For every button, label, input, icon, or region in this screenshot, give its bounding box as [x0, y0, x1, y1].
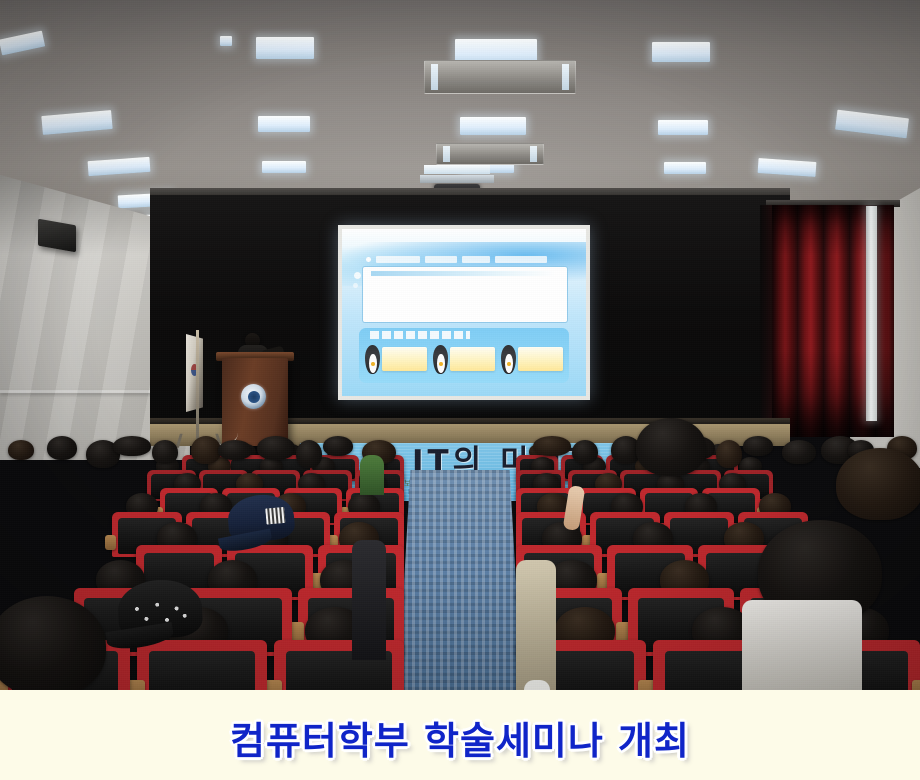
projection-screen: [338, 225, 590, 400]
audience-head: [636, 418, 706, 476]
page-root: IT의 미래전 정보통신부·한국정보문화진흥원 IT Vision 컴퓨터학부 …: [0, 0, 920, 780]
caption-bar: 컴퓨터학부 학술세미나 개최: [0, 690, 920, 780]
slide-lower-panel: [359, 328, 569, 383]
ceiling-air-vent: [436, 143, 544, 165]
cap-logo-icon: [265, 507, 285, 525]
seminar-photo: IT의 미래전 정보통신부·한국정보문화진흥원 IT Vision: [0, 0, 920, 690]
penguin-icon: [365, 345, 380, 375]
cap-stud-decor: [128, 600, 193, 629]
auditorium-seat: [137, 640, 267, 690]
seat-armrest: [105, 535, 116, 550]
slide-header-bar: [362, 252, 567, 265]
ceiling-light: [664, 162, 706, 174]
vent-louver: [431, 64, 438, 90]
slide-content-line: [371, 271, 555, 275]
audience-person-white-shirt: [742, 600, 862, 690]
ceiling-light: [652, 42, 710, 62]
audience-head: [572, 440, 598, 464]
audience-head: [113, 436, 151, 456]
slide-header-chunk: [376, 256, 420, 263]
audience-head: [8, 440, 34, 460]
korean-flag-icon: [186, 334, 203, 412]
flag-pole: [196, 330, 199, 442]
audience-head: [191, 436, 221, 464]
ceiling-light: [220, 36, 232, 46]
audience-head: [296, 440, 322, 468]
slide-header-chunk: [425, 256, 457, 263]
audience-head: [782, 440, 816, 464]
slide-header-chunk: [462, 256, 490, 263]
vent-louver: [562, 64, 569, 90]
audience-head: [533, 436, 571, 456]
audience-head: [716, 440, 742, 468]
seat-armrest: [912, 680, 920, 690]
audience-head: [257, 436, 295, 460]
ceiling-light: [256, 37, 314, 59]
window-light-slit: [866, 206, 877, 421]
slide-callout-box: [518, 347, 562, 371]
ceiling-light: [460, 117, 526, 135]
ceiling-air-vent: [424, 60, 576, 94]
slide-character-item: [365, 342, 426, 377]
audience-head: [323, 436, 353, 456]
penguin-icon: [501, 345, 516, 375]
slide-character-item: [501, 342, 562, 377]
slide-character-item: [433, 342, 494, 377]
slide-callout-box: [382, 347, 426, 371]
penguin-icon: [433, 345, 448, 375]
audience-shoe: [524, 680, 550, 690]
ceiling-light: [258, 116, 310, 132]
slide-header-chunk: [495, 256, 547, 263]
center-aisle-floor: [398, 470, 522, 690]
slide-content-box: [362, 266, 569, 323]
slide-character-row: [365, 342, 562, 377]
caption-title: 컴퓨터학부 학술세미나 개최: [230, 710, 690, 765]
audience-head: [218, 440, 252, 460]
audience-person-green: [360, 455, 384, 495]
audience-head: [47, 436, 77, 460]
audience-head: [836, 448, 920, 520]
audience-person-khaki: [516, 560, 556, 690]
audience-head: [152, 440, 178, 464]
ceiling-light: [262, 161, 306, 173]
slide-callout-box: [450, 347, 494, 371]
slide-subtitle-bar: [370, 331, 471, 338]
audience-head: [743, 436, 773, 456]
ceiling-light: [658, 120, 708, 135]
vent-louver: [443, 146, 450, 162]
university-emblem-icon: [241, 384, 266, 409]
audience-person-dark: [352, 540, 386, 660]
slide-header-bullet-icon: [366, 257, 371, 262]
seat-cushion: [149, 651, 256, 690]
presentation-slide: [342, 229, 586, 396]
vent-louver: [530, 146, 537, 162]
